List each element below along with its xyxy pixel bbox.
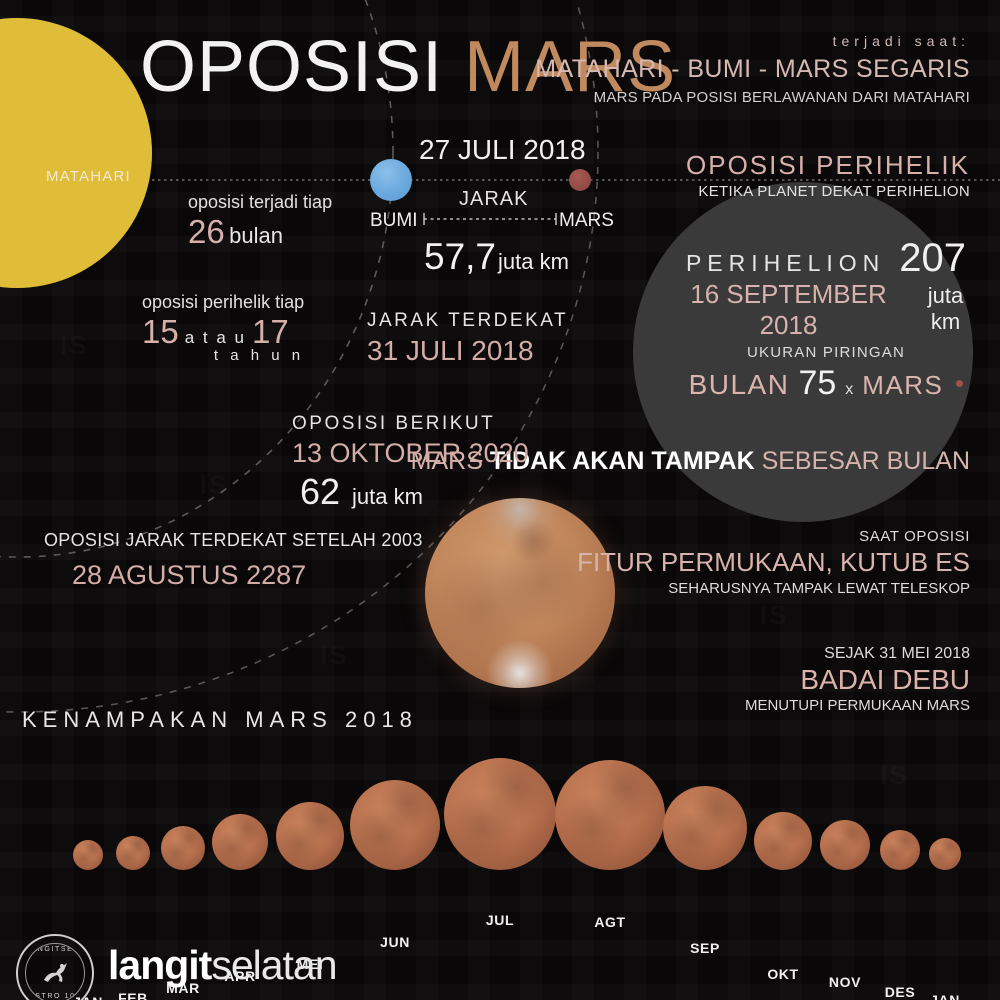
mars-size-item: APR [212,814,268,870]
chart-title: KENAMPAKAN MARS 2018 [22,707,418,733]
mars-disc-nov-10 [820,820,870,870]
mars-disc-jan-0 [73,840,103,870]
closest-date: 31 JULI 2018 [367,335,568,367]
moon-word: BULAN [689,369,790,401]
brand-part-2: selatan [211,942,336,988]
dust-storm-headline: BADAI DEBU [745,664,970,696]
surface-headline: FITUR PERMUKAAN, KUTUB ES [577,547,970,578]
opposition-every-block: oposisi terjadi tiap 26 bulan [188,192,332,251]
watermark-text: lS [320,640,349,671]
langitselatan-seal-logo: LANGITSELATAN ASTRO 101 [16,934,94,1000]
title-part-1: OPOSISI [140,27,443,107]
opposition-every-number: 26 [188,213,225,250]
perihelic-every-caption: oposisi perihelik tiap [142,292,304,313]
perihelion-word: PERIHELION [686,250,885,277]
mars-size-item: FEB [116,836,150,870]
mars-size-item: MEI [276,802,344,870]
mars-size-item: JUN [350,780,440,870]
mars-size-item: JAN [73,840,103,870]
seal-top-text: LANGITSELATAN [26,946,84,953]
mars-disc-mei-4 [276,802,344,870]
distance-unit: juta km [498,249,569,275]
mars-disc-agt-7 [555,760,665,870]
perihelic-heading-text: OPOSISI PERIHELIK [686,150,970,181]
perihelion-date: 16 SEPTEMBER 2018 [676,279,901,341]
surface-sub: SEHARUSNYA TAMPAK LEWAT TELESKOP [577,580,970,597]
next-opposition-value: 62 [300,471,340,513]
mars-size-item: MAR [161,826,205,870]
next-opposition-unit: juta km [352,484,423,510]
centaur-icon [40,960,70,986]
statement-post: SEBESAR BULAN [755,447,970,475]
sun-circle [0,18,152,288]
closest-caption: JARAK TERDEKAT [367,310,568,332]
perihelion-unit: juta km [915,283,976,335]
mars-size-item: JUL [444,758,556,870]
mars-word: MARS [862,370,943,401]
next-opposition-date: 13 OKTOBER 2020 [292,438,529,469]
perihelic-every-number-2: 17 [252,313,289,351]
mars-size-item: JAN [929,838,961,870]
opposition-every-caption: oposisi terjadi tiap [188,192,332,213]
mars-disc-jan-12 [929,838,961,870]
perihelic-every-conjunction: a t a u [185,328,246,348]
seal-bottom-text: ASTRO 101 [26,993,84,1000]
mars-disc-apr-3 [212,814,268,870]
mars-size-item: SEP [663,786,747,870]
watermark-text: lS [760,600,789,631]
mars-size-chart: JANFEBMARAPRMEIJUNJULAGTSEPOKTNOVDESJAN [0,756,1000,906]
watermark-text: lS [200,470,229,501]
mars-size-item: OKT [754,812,812,870]
mars-size-item: NOV [820,820,870,870]
perihelion-block: PERIHELION 207 16 SEPTEMBER 2018 juta km [676,240,976,341]
infographic-poster: lS lS lS lS lS MATAHARI OPOSISI MARS ter… [0,0,1000,1000]
distance-label: JARAK [459,188,528,211]
surface-features-block: SAAT OPOSISI FITUR PERMUKAAN, KUTUB ES S… [577,528,970,597]
opposition-every-unit: bulan [229,223,283,248]
dust-storm-block: SEJAK 31 MEI 2018 BADAI DEBU MENUTUPI PE… [745,645,970,714]
surface-caption: SAAT OPOSISI [577,528,970,545]
mars-disc-des-11 [880,830,920,870]
mars-label: MARS [559,210,614,232]
brand-part-1: langit [108,942,211,988]
sun-label: MATAHARI [46,168,131,185]
header-block: terjadi saat: MATAHARI - BUMI - MARS SEG… [535,33,970,106]
perihelic-every-number-1: 15 [142,313,179,351]
closest-distance-block: JARAK TERDEKAT 31 JULI 2018 [367,310,568,367]
mars-disc-sep-8 [663,786,747,870]
mars-dot-icon [956,380,963,387]
mars-disc-feb-1 [116,836,150,870]
disc-size-caption: UKURAN PIRINGAN [676,344,976,361]
size-factor: 75 [798,364,836,403]
statement-bold: TIDAK AKAN TAMPAK [490,447,755,475]
perihelic-subheading-text: KETIKA PLANET DEKAT PERIHELION [686,183,970,200]
disc-size-block: UKURAN PIRINGAN BULAN 75 x MARS [676,344,976,403]
earth-circle [370,159,412,201]
mars-disc-jul-6 [444,758,556,870]
mars-size-item: AGT [555,760,665,870]
dust-storm-sub: MENUTUPI PERMUKAAN MARS [745,697,970,714]
mars-circle [569,169,591,191]
perihelic-opposition-heading: OPOSISI PERIHELIK KETIKA PLANET DEKAT PE… [686,150,970,200]
footer: LANGITSELATAN ASTRO 101 langitselatan KO… [0,922,1000,1000]
watermark-text: lS [60,330,89,361]
next-opposition-block: OPOSISI BERIKUT 13 OKTOBER 2020 62 juta … [292,413,529,513]
mars-disc-okt-9 [754,812,812,870]
times-symbol: x [845,381,853,399]
mars-disc-mar-2 [161,826,205,870]
closest-after-caption: OPOSISI JARAK TERDEKAT SETELAH 2003 [44,530,423,551]
header-line-2: MARS PADA POSISI BERLAWANAN DARI MATAHAR… [535,89,970,106]
opposition-date-2018: 27 JULI 2018 [419,134,586,166]
perihelic-every-block: oposisi perihelik tiap 15 a t a u 17 t a… [142,292,304,364]
next-opposition-caption: OPOSISI BERIKUT [292,413,529,435]
perihelion-value: 207 [899,240,966,276]
earth-label: BUMI [370,210,418,232]
distance-value-block: 57,7 juta km [424,236,569,278]
mars-disc-jun-5 [350,780,440,870]
mars-size-item: DES [880,830,920,870]
brand-wordmark: langitselatan [108,942,337,989]
header-kicker: terjadi saat: [535,33,970,49]
distance-value: 57,7 [424,236,496,278]
closest-after-date: 28 AGUSTUS 2287 [44,560,423,591]
closest-after-2003-block: OPOSISI JARAK TERDEKAT SETELAH 2003 28 A… [44,530,423,591]
header-line-1: MATAHARI - BUMI - MARS SEGARIS [535,55,970,84]
dust-storm-caption: SEJAK 31 MEI 2018 [745,645,970,663]
